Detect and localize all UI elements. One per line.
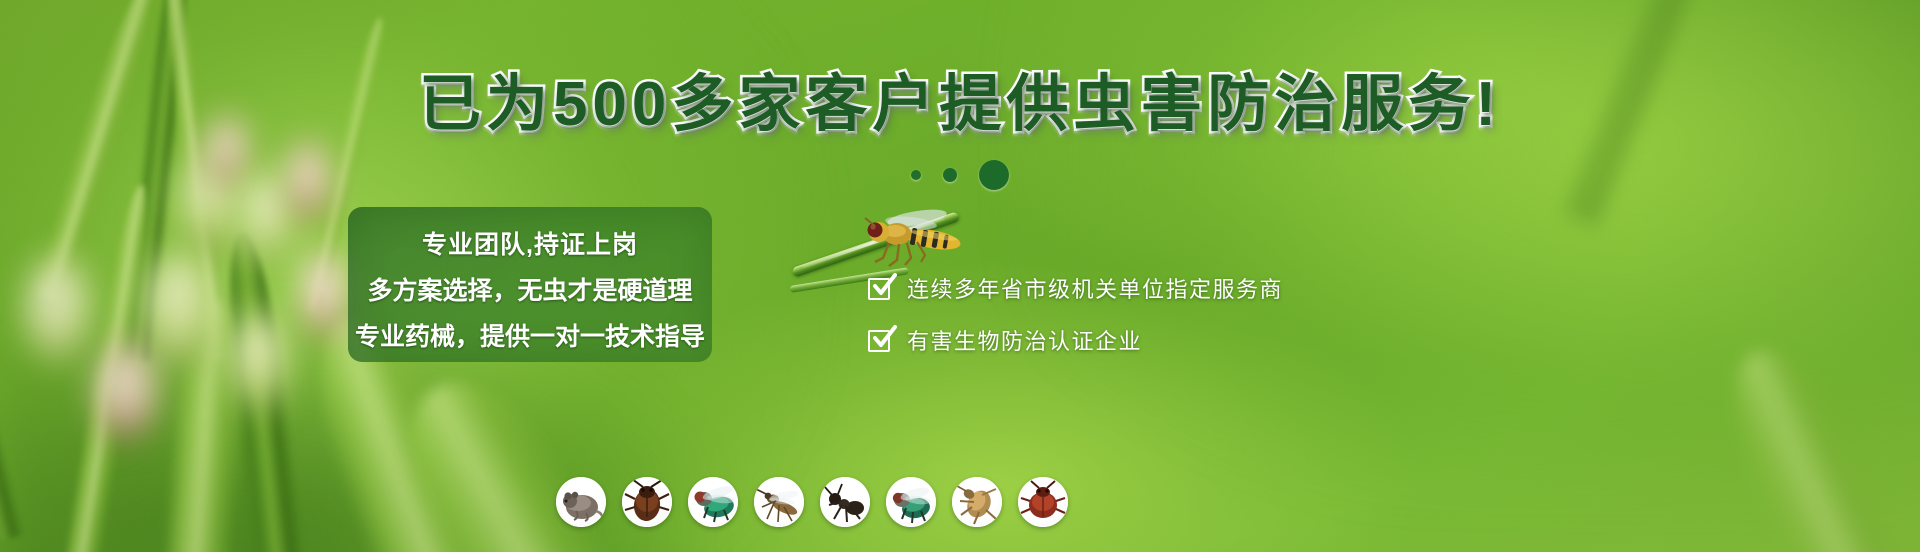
- pest-icon-cockroach[interactable]: [622, 477, 672, 527]
- pest-icon-mosquito[interactable]: [754, 477, 804, 527]
- checkbox-checked-icon: [868, 276, 893, 301]
- certifications-list: 连续多年省市级机关单位指定服务商 有害生物防治认证企业: [868, 272, 1283, 356]
- features-line-2: 多方案选择，无虫才是硬道理: [343, 271, 717, 307]
- certification-label: 连续多年省市级机关单位指定服务商: [907, 272, 1283, 304]
- dot-large-icon: [979, 160, 1009, 190]
- pest-icon-bedbug[interactable]: [1018, 477, 1068, 527]
- certification-label: 有害生物防治认证企业: [907, 324, 1142, 356]
- hoverfly-icon: [845, 200, 975, 270]
- features-line-3: 专业药械，提供一对一技术指导: [336, 317, 724, 353]
- page-title: 已为500多家客户提供虫害防治服务!: [0, 74, 1920, 136]
- pest-icon-housefly[interactable]: [886, 477, 936, 527]
- dot-small-icon: [911, 170, 921, 180]
- features-line-1: 专业团队,持证上岗: [348, 225, 712, 261]
- pest-icon-blowfly[interactable]: [688, 477, 738, 527]
- pest-icon-ant[interactable]: [820, 477, 870, 527]
- pest-icon-flea[interactable]: [952, 477, 1002, 527]
- headline-text: 已为500多家客户提供虫害防治服务!: [419, 70, 1501, 139]
- dot-medium-icon: [943, 168, 957, 182]
- pest-control-banner: 已为500多家客户提供虫害防治服务! 专业团队,持证上岗 多方案选择，无虫才是硬…: [0, 0, 1920, 552]
- pest-icon-rat[interactable]: [556, 477, 606, 527]
- checkbox-checked-icon: [868, 328, 893, 353]
- list-item: 有害生物防治认证企业: [868, 324, 1283, 356]
- pest-icons-row: [556, 477, 1068, 527]
- features-panel: 专业团队,持证上岗 多方案选择，无虫才是硬道理 专业药械，提供一对一技术指导: [348, 207, 712, 362]
- decorative-dots: [0, 160, 1920, 190]
- list-item: 连续多年省市级机关单位指定服务商: [868, 272, 1283, 304]
